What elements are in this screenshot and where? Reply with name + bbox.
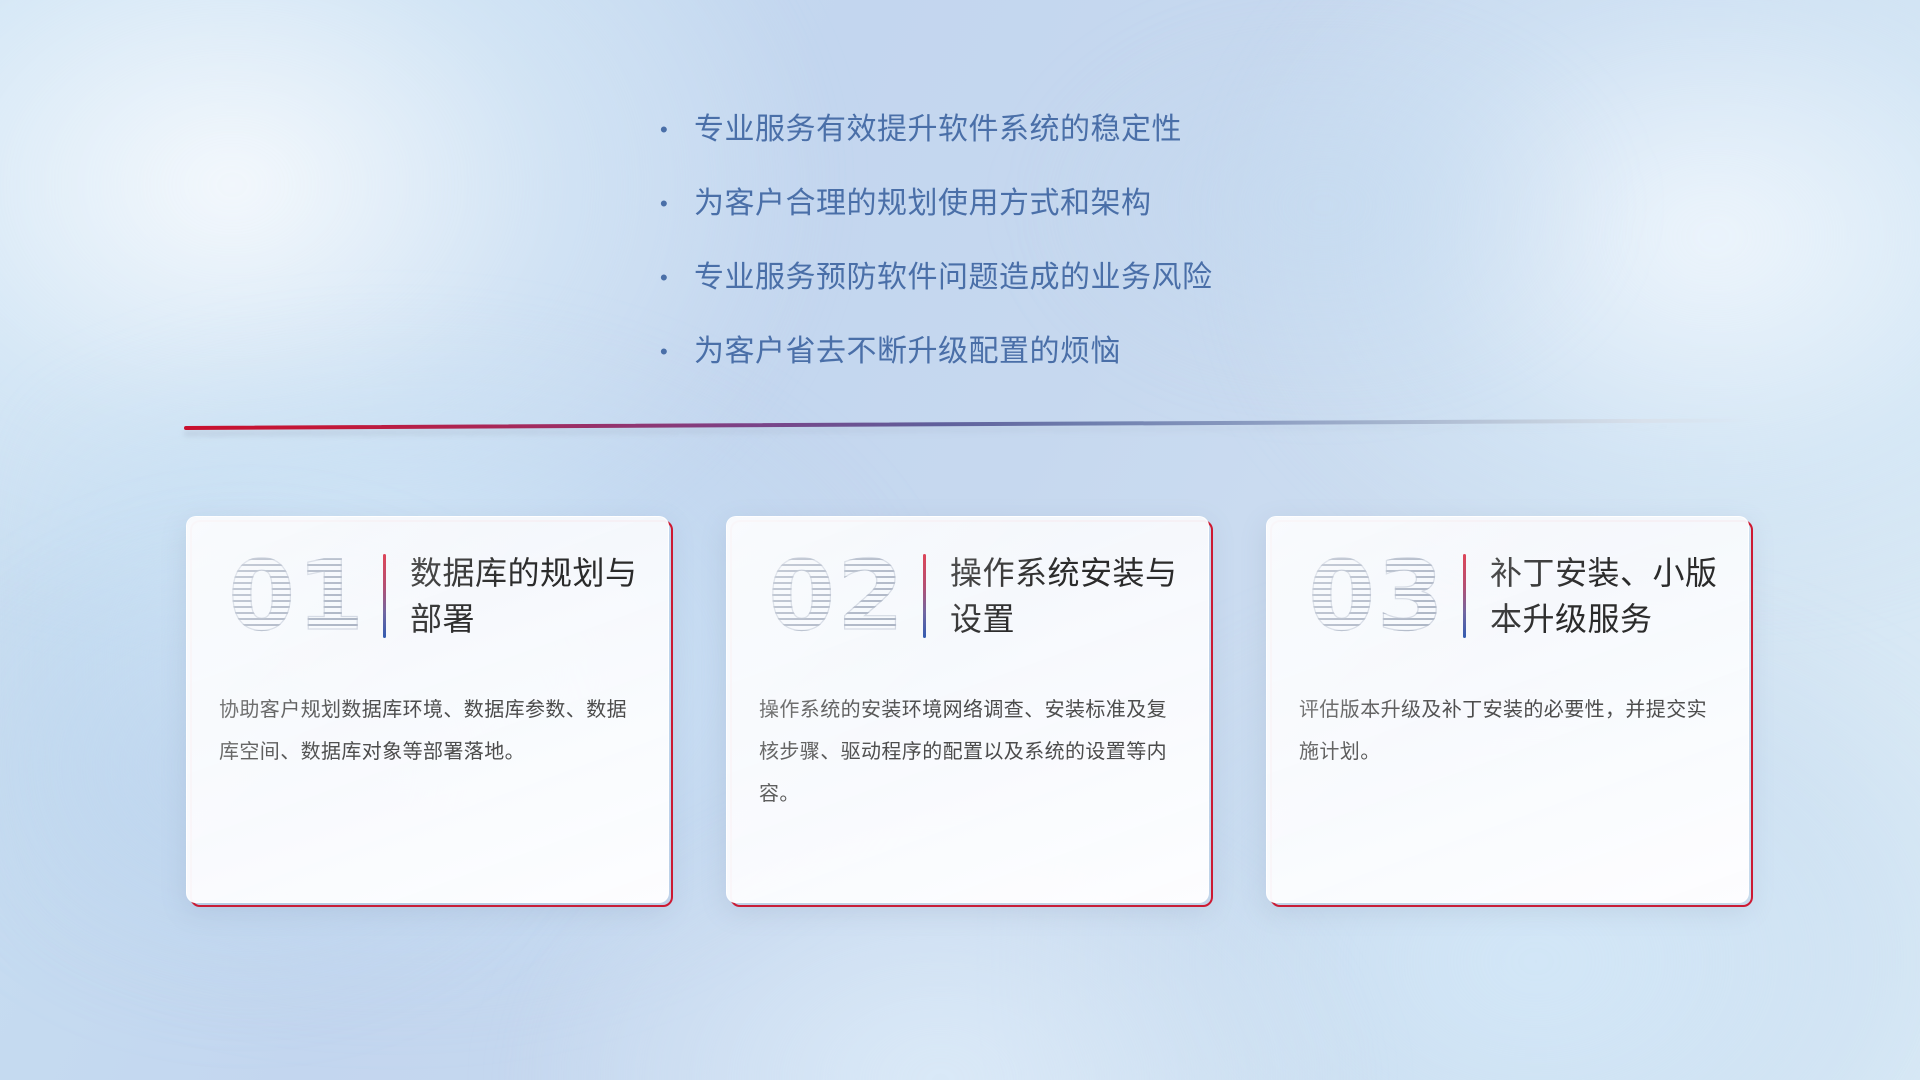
bullet-item: • 为客户省去不断升级配置的烦恼 [660,330,1420,374]
card-header: 02 操作系统安装与设置 [727,517,1208,675]
card-description: 评估版本升级及补丁安装的必要性，并提交实施计划。 [1267,675,1748,773]
bullet-dot-icon: • [660,330,694,374]
bullet-item: • 为客户合理的规划使用方式和架构 [660,182,1420,226]
bullet-list: • 专业服务有效提升软件系统的稳定性 • 为客户合理的规划使用方式和架构 • 专… [660,108,1420,404]
bullet-dot-icon: • [660,256,694,300]
bullet-item: • 专业服务预防软件问题造成的业务风险 [660,256,1420,300]
card-number: 02 [757,548,917,644]
bullet-dot-icon: • [660,182,694,226]
card-divider-bar [1463,554,1466,638]
card-title: 补丁安装、小版本升级服务 [1490,550,1730,642]
bullet-item-text: 专业服务预防软件问题造成的业务风险 [694,256,1213,300]
card-surface[interactable]: 02 操作系统安装与设置 操作系统的安装环境网络调查、安装标准及复核步骤、驱动程… [726,516,1209,903]
card-description: 操作系统的安装环境网络调查、安装标准及复核步骤、驱动程序的配置以及系统的设置等内… [727,675,1208,815]
card-row: 01 数据库的规划与部署 协助客户规划数据库环境、数据库参数、数据库空间、数据库… [186,516,1749,903]
card-surface[interactable]: 03 补丁安装、小版本升级服务 评估版本升级及补丁安装的必要性，并提交实施计划。 [1266,516,1749,903]
bullet-item-text: 为客户省去不断升级配置的烦恼 [694,330,1121,374]
card-description: 协助客户规划数据库环境、数据库参数、数据库空间、数据库对象等部署落地。 [187,675,668,773]
card-divider-bar [923,554,926,638]
card-header: 03 补丁安装、小版本升级服务 [1267,517,1748,675]
section-divider [184,422,1754,438]
card-divider-bar [383,554,386,638]
bullet-item: • 专业服务有效提升软件系统的稳定性 [660,108,1420,152]
card-surface[interactable]: 01 数据库的规划与部署 协助客户规划数据库环境、数据库参数、数据库空间、数据库… [186,516,669,903]
service-card[interactable]: 01 数据库的规划与部署 协助客户规划数据库环境、数据库参数、数据库空间、数据库… [186,516,669,903]
service-card[interactable]: 02 操作系统安装与设置 操作系统的安装环境网络调查、安装标准及复核步骤、驱动程… [726,516,1209,903]
card-header: 01 数据库的规划与部署 [187,517,668,675]
card-number: 03 [1297,548,1457,644]
service-card[interactable]: 03 补丁安装、小版本升级服务 评估版本升级及补丁安装的必要性，并提交实施计划。 [1266,516,1749,903]
card-title: 操作系统安装与设置 [950,550,1190,642]
bullet-item-text: 专业服务有效提升软件系统的稳定性 [694,108,1182,152]
card-number: 01 [217,548,377,644]
card-title: 数据库的规划与部署 [410,550,650,642]
bullet-dot-icon: • [660,108,694,152]
bullet-item-text: 为客户合理的规划使用方式和架构 [694,182,1152,226]
